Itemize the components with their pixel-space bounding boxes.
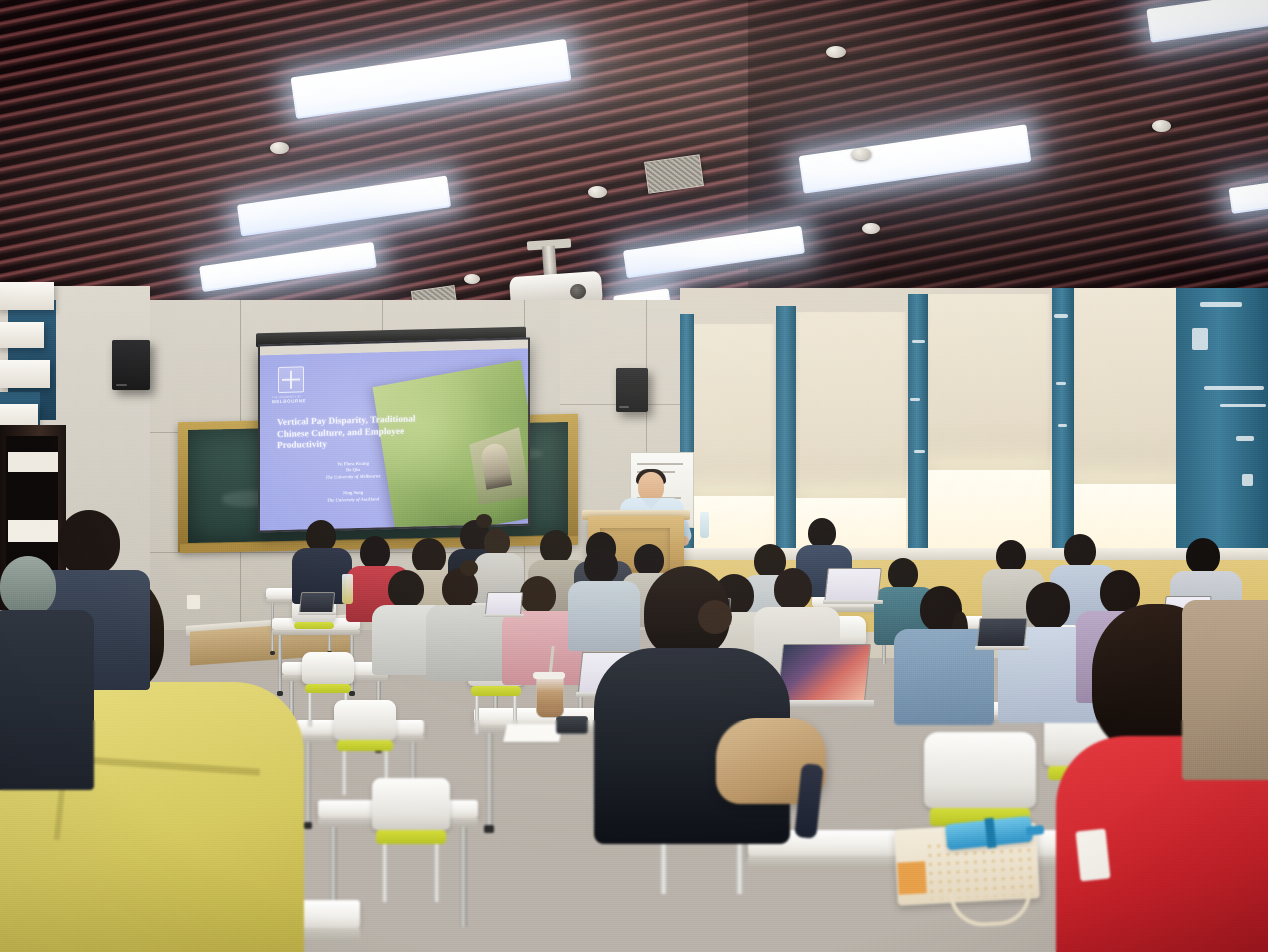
- window-mullion: [1052, 288, 1074, 568]
- classroom-photo: THE UNIVERSITY OF MELBOURNE Vertical Pay…: [0, 0, 1268, 952]
- slide-title: Vertical Pay Disparity, Traditional Chin…: [277, 413, 437, 452]
- ceiling-speaker-icon: [852, 148, 871, 160]
- window-blind[interactable]: [1072, 288, 1180, 484]
- paper-handout: [503, 724, 563, 742]
- paint-scuff: [914, 450, 925, 453]
- paint-scuff: [1204, 386, 1264, 390]
- water-bottle: [342, 574, 353, 604]
- paint-scuff: [1056, 382, 1066, 385]
- ceiling-speaker-icon: [464, 274, 480, 284]
- hoodie-logo: [1075, 829, 1110, 882]
- paint-scuff: [1236, 436, 1254, 441]
- door-shelf: [8, 452, 58, 472]
- wall-shelf-panel: [0, 322, 44, 348]
- wall-speaker-right: [616, 368, 648, 412]
- water-bottle: [700, 512, 709, 538]
- paint-scuff: [912, 340, 925, 343]
- window-mullion: [908, 294, 928, 566]
- paint-scuff: [1192, 328, 1208, 350]
- paint-scuff: [1220, 404, 1266, 407]
- ceiling-speaker-icon: [1152, 120, 1171, 132]
- wall-shelf-panel: [0, 282, 54, 310]
- ceiling-speaker-icon: [862, 223, 880, 234]
- window-mullion: [776, 306, 796, 568]
- tote-bag-handle: [949, 890, 1033, 928]
- tote-bag-accent: [897, 861, 927, 894]
- ceiling-speaker-icon: [588, 186, 607, 198]
- umbrella-handle: [1026, 825, 1045, 836]
- paint-scuff: [1242, 474, 1253, 486]
- iced-coffee-cup: [536, 676, 564, 718]
- window-glass: [926, 470, 1050, 558]
- smartphone[interactable]: [556, 716, 588, 734]
- window-blind[interactable]: [688, 324, 774, 496]
- wall-speaker-left: [112, 340, 150, 390]
- window-pillar: [1176, 288, 1268, 568]
- ceiling-speaker-icon: [270, 142, 289, 154]
- projection-screen: THE UNIVERSITY OF MELBOURNE Vertical Pay…: [258, 337, 530, 532]
- window-blind[interactable]: [926, 294, 1050, 470]
- window-blind[interactable]: [796, 312, 906, 498]
- door-shelf: [8, 520, 58, 542]
- wall-outlet[interactable]: [186, 594, 201, 610]
- logo-name: MELBOURNE: [272, 398, 314, 405]
- ceiling-speaker-icon: [826, 46, 846, 58]
- paint-scuff: [1200, 302, 1242, 307]
- cup-lid: [533, 672, 565, 679]
- wall-shelf-panel: [0, 360, 50, 388]
- university-logo-icon: [278, 366, 304, 393]
- paint-scuff: [910, 398, 920, 401]
- paint-scuff: [1058, 424, 1067, 427]
- presentation-slide: THE UNIVERSITY OF MELBOURNE Vertical Pay…: [260, 348, 528, 530]
- paint-scuff: [1054, 314, 1068, 318]
- university-logo-text: THE UNIVERSITY OF MELBOURNE: [272, 395, 314, 405]
